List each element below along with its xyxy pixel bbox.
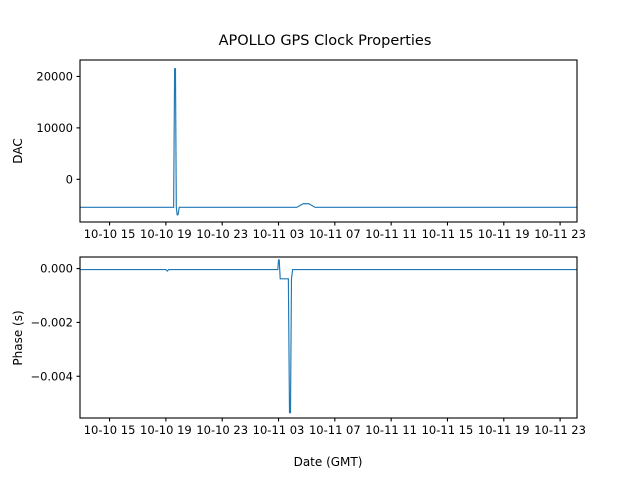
phase-y-axis-label: Phase (s) <box>11 310 25 365</box>
svg-text:10-10 19: 10-10 19 <box>140 227 192 241</box>
svg-text:10-11 15: 10-11 15 <box>422 227 474 241</box>
svg-text:10-10 23: 10-10 23 <box>196 227 248 241</box>
svg-text:10-11 03: 10-11 03 <box>253 227 305 241</box>
svg-text:10-11 07: 10-11 07 <box>309 423 361 437</box>
svg-text:10-11 07: 10-11 07 <box>309 227 361 241</box>
svg-text:10-11 19: 10-11 19 <box>478 423 530 437</box>
svg-text:10000: 10000 <box>36 121 73 135</box>
svg-text:−0.004: −0.004 <box>30 369 73 383</box>
svg-text:10-10 15: 10-10 15 <box>84 423 136 437</box>
svg-text:−0.002: −0.002 <box>30 315 73 329</box>
svg-text:10-11 19: 10-11 19 <box>478 227 530 241</box>
svg-text:10-11 03: 10-11 03 <box>253 423 305 437</box>
svg-text:10-11 15: 10-11 15 <box>422 423 474 437</box>
figure-title: APOLLO GPS Clock Properties <box>219 33 432 49</box>
dac-y-axis-label: DAC <box>11 138 25 163</box>
phase-x-axis-label: Date (GMT) <box>294 455 363 469</box>
svg-text:20000: 20000 <box>36 69 73 83</box>
svg-text:10-10 23: 10-10 23 <box>196 423 248 437</box>
svg-text:10-11 11: 10-11 11 <box>365 423 417 437</box>
svg-text:0: 0 <box>66 172 73 186</box>
svg-text:10-10 19: 10-10 19 <box>140 423 192 437</box>
figure-canvas: APOLLO GPS Clock Properties DAC 01000020… <box>0 0 640 480</box>
svg-text:10-11 23: 10-11 23 <box>534 227 586 241</box>
svg-text:10-10 15: 10-10 15 <box>84 227 136 241</box>
svg-text:10-11 11: 10-11 11 <box>365 227 417 241</box>
svg-text:10-11 23: 10-11 23 <box>534 423 586 437</box>
svg-text:0.000: 0.000 <box>40 262 73 276</box>
matplotlib-figure: APOLLO GPS Clock Properties DAC 01000020… <box>0 0 640 480</box>
